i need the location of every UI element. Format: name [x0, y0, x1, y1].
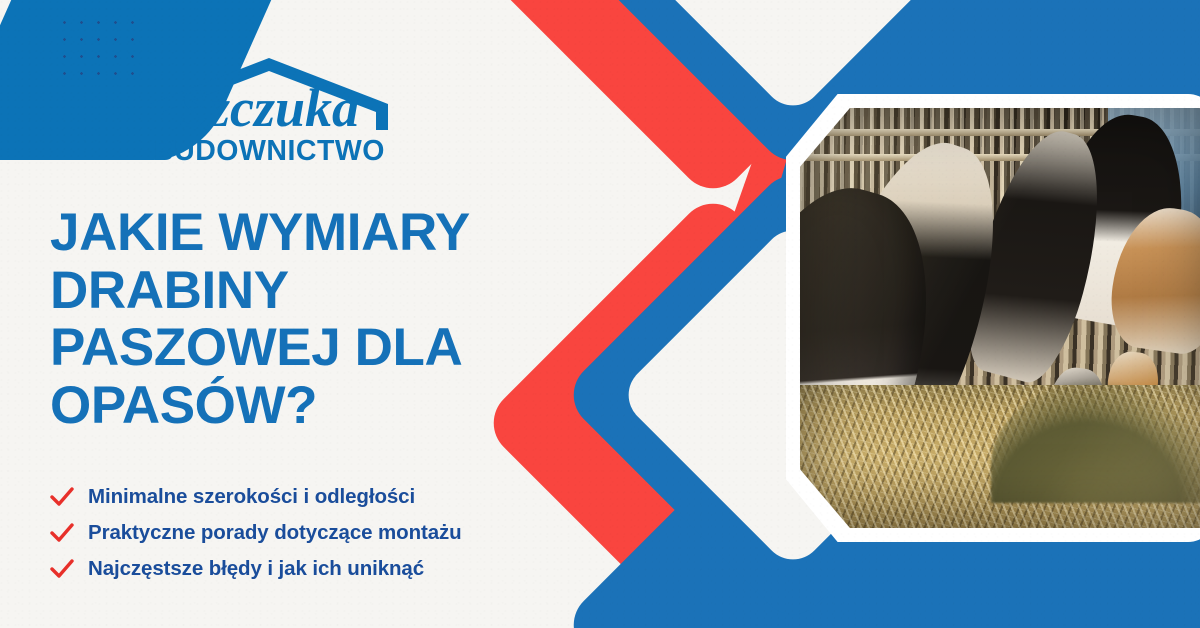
hero-photo-frame: [786, 94, 1200, 542]
list-item: Najczęstsze błędy i jak ich uniknąć: [50, 551, 462, 587]
benefit-label: Najczęstsze błędy i jak ich uniknąć: [88, 557, 424, 581]
barn-roof-outline-icon: Szczuka BUDOWNICTWO: [144, 52, 394, 164]
benefit-list: Minimalne szerokości i odległości Prakty…: [50, 479, 462, 587]
hero-photo: [800, 108, 1200, 528]
page-title: JAKIE WYMIARY DRABINY PASZOWEJ DLA OPASÓ…: [50, 204, 650, 434]
check-icon: [50, 523, 74, 543]
top-left-dot-grid: [56, 14, 142, 80]
benefit-label: Minimalne szerokości i odległości: [88, 485, 415, 509]
headline-line-1: JAKIE WYMIARY: [50, 204, 650, 262]
check-icon: [50, 559, 74, 579]
logo-subtext: BUDOWNICTWO: [153, 135, 385, 164]
list-item: Minimalne szerokości i odległości: [50, 479, 462, 515]
benefit-label: Praktyczne porady dotyczące montażu: [88, 521, 462, 545]
headline-line-3: PASZOWEJ DLA: [50, 319, 650, 377]
cattle-feeding-illustration: [800, 108, 1200, 528]
brand-logo[interactable]: Szczuka BUDOWNICTWO: [144, 52, 394, 164]
banner-canvas: Szczuka BUDOWNICTWO JAKIE WYMIARY DRABIN…: [0, 0, 1200, 628]
headline-line-2: DRABINY: [50, 262, 650, 320]
headline-line-4: OPASÓW?: [50, 377, 650, 435]
check-icon: [50, 487, 74, 507]
logo-wordmark: Szczuka: [179, 78, 359, 138]
list-item: Praktyczne porady dotyczące montażu: [50, 515, 462, 551]
